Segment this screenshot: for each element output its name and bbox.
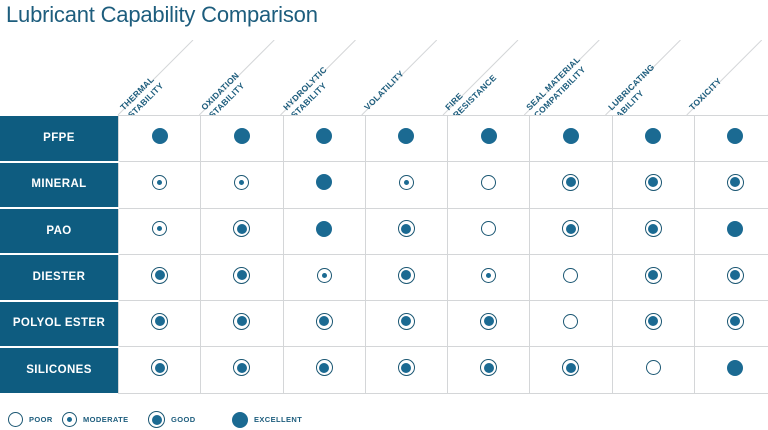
cell-polyol-ester-oxidation-stability <box>201 301 283 347</box>
rating-marker-excellent <box>152 128 168 144</box>
cell-pfpe-thermal-stability <box>119 116 201 162</box>
rating-marker-good <box>316 359 333 376</box>
rating-marker-excellent <box>727 360 743 376</box>
rating-marker-moderate <box>62 412 77 427</box>
rating-marker-good <box>645 220 662 237</box>
rating-marker-moderate <box>234 175 249 190</box>
rating-marker-excellent <box>645 128 661 144</box>
cell-silicones-lubricating-ability <box>612 347 694 393</box>
cell-diester-seal-material-compatibility <box>530 254 612 300</box>
rating-marker-good <box>727 174 744 191</box>
cell-pao-lubricating-ability <box>612 208 694 254</box>
legend-label-excellent: EXCELLENT <box>254 415 302 424</box>
rating-marker-moderate <box>152 175 167 190</box>
cell-pao-hydrolytic-stability <box>283 208 365 254</box>
page-title: Lubricant Capability Comparison <box>6 2 318 28</box>
legend-label-moderate: MODERATE <box>83 415 129 424</box>
cell-pfpe-oxidation-stability <box>201 116 283 162</box>
cell-polyol-ester-seal-material-compatibility <box>530 301 612 347</box>
cell-mineral-thermal-stability <box>119 162 201 208</box>
rating-marker-excellent <box>316 221 332 237</box>
cell-polyol-ester-thermal-stability <box>119 301 201 347</box>
rating-marker-moderate <box>152 221 167 236</box>
cell-silicones-oxidation-stability <box>201 347 283 393</box>
cell-pao-thermal-stability <box>119 208 201 254</box>
cell-pfpe-seal-material-compatibility <box>530 116 612 162</box>
cell-pfpe-lubricating-ability <box>612 116 694 162</box>
cell-diester-volatility <box>365 254 447 300</box>
rating-marker-poor <box>646 360 661 375</box>
rating-marker-good <box>151 267 168 284</box>
rating-marker-poor <box>481 221 496 236</box>
row-label-polyol-ester: POLYOL ESTER <box>0 301 119 347</box>
cell-polyol-ester-volatility <box>365 301 447 347</box>
cell-diester-hydrolytic-stability <box>283 254 365 300</box>
row-label-pao: PAO <box>0 208 119 254</box>
rating-marker-good <box>233 313 250 330</box>
rating-marker-excellent <box>727 128 743 144</box>
cell-silicones-hydrolytic-stability <box>283 347 365 393</box>
cell-pao-volatility <box>365 208 447 254</box>
rating-marker-poor <box>481 175 496 190</box>
rating-marker-excellent <box>727 221 743 237</box>
cell-mineral-seal-material-compatibility <box>530 162 612 208</box>
rating-marker-excellent <box>481 128 497 144</box>
row-label-diester: DIESTER <box>0 254 119 300</box>
rating-marker-excellent <box>316 174 332 190</box>
column-header-area: THERMALSTABILITYOXIDATIONSTABILITYHYDROL… <box>0 40 768 115</box>
rating-marker-excellent <box>563 128 579 144</box>
table-row: POLYOL ESTER <box>0 301 768 347</box>
cell-mineral-toxicity <box>694 162 768 208</box>
legend-item-good: GOOD <box>148 409 196 430</box>
rating-marker-good <box>398 313 415 330</box>
rating-marker-good <box>562 174 579 191</box>
rating-marker-good <box>645 174 662 191</box>
cell-diester-fire-resistance <box>448 254 530 300</box>
legend-label-good: GOOD <box>171 415 196 424</box>
rating-marker-excellent <box>316 128 332 144</box>
cell-diester-lubricating-ability <box>612 254 694 300</box>
cell-silicones-toxicity <box>694 347 768 393</box>
legend: POORMODERATEGOODEXCELLENT <box>0 409 768 430</box>
legend-item-excellent: EXCELLENT <box>232 409 302 430</box>
rating-marker-good <box>562 359 579 376</box>
cell-polyol-ester-hydrolytic-stability <box>283 301 365 347</box>
rating-marker-good <box>727 267 744 284</box>
cell-diester-oxidation-stability <box>201 254 283 300</box>
row-label-mineral: MINERAL <box>0 162 119 208</box>
rating-marker-good <box>480 313 497 330</box>
legend-label-poor: POOR <box>29 415 53 424</box>
table-row: SILICONES <box>0 347 768 393</box>
row-label-pfpe: PFPE <box>0 116 119 162</box>
table-row: MINERAL <box>0 162 768 208</box>
rating-marker-good <box>398 267 415 284</box>
table-row: PAO <box>0 208 768 254</box>
rating-marker-good <box>398 359 415 376</box>
rating-marker-moderate <box>317 268 332 283</box>
rating-marker-excellent <box>234 128 250 144</box>
rating-marker-good <box>151 313 168 330</box>
cell-pao-fire-resistance <box>448 208 530 254</box>
cell-mineral-hydrolytic-stability <box>283 162 365 208</box>
cell-silicones-fire-resistance <box>448 347 530 393</box>
cell-pao-oxidation-stability <box>201 208 283 254</box>
rating-marker-good <box>480 359 497 376</box>
cell-silicones-seal-material-compatibility <box>530 347 612 393</box>
row-label-silicones: SILICONES <box>0 347 119 393</box>
cell-diester-thermal-stability <box>119 254 201 300</box>
cell-pfpe-toxicity <box>694 116 768 162</box>
rating-marker-excellent <box>232 412 248 428</box>
rating-marker-moderate <box>399 175 414 190</box>
rating-marker-poor <box>8 412 23 427</box>
rating-marker-poor <box>563 314 578 329</box>
cell-diester-toxicity <box>694 254 768 300</box>
rating-marker-good <box>151 359 168 376</box>
cell-silicones-thermal-stability <box>119 347 201 393</box>
rating-marker-good <box>398 220 415 237</box>
cell-mineral-lubricating-ability <box>612 162 694 208</box>
cell-silicones-volatility <box>365 347 447 393</box>
rating-marker-good <box>645 313 662 330</box>
cell-pfpe-hydrolytic-stability <box>283 116 365 162</box>
rating-marker-poor <box>563 268 578 283</box>
rating-marker-good <box>727 313 744 330</box>
rating-marker-good <box>233 267 250 284</box>
table-row: PFPE <box>0 116 768 162</box>
cell-mineral-oxidation-stability <box>201 162 283 208</box>
cell-polyol-ester-lubricating-ability <box>612 301 694 347</box>
cell-pfpe-fire-resistance <box>448 116 530 162</box>
cell-polyol-ester-fire-resistance <box>448 301 530 347</box>
capability-matrix: PFPEMINERALPAODIESTERPOLYOL ESTERSILICON… <box>0 115 768 394</box>
cell-pao-seal-material-compatibility <box>530 208 612 254</box>
cell-polyol-ester-toxicity <box>694 301 768 347</box>
cell-pao-toxicity <box>694 208 768 254</box>
rating-marker-good <box>316 313 333 330</box>
cell-pfpe-volatility <box>365 116 447 162</box>
rating-marker-moderate <box>481 268 496 283</box>
legend-item-moderate: MODERATE <box>62 409 129 430</box>
rating-marker-excellent <box>398 128 414 144</box>
cell-mineral-fire-resistance <box>448 162 530 208</box>
rating-marker-good <box>645 267 662 284</box>
rating-marker-good <box>233 359 250 376</box>
legend-item-poor: POOR <box>8 409 53 430</box>
table-row: DIESTER <box>0 254 768 300</box>
rating-marker-good <box>562 220 579 237</box>
rating-marker-good <box>148 411 165 428</box>
cell-mineral-volatility <box>365 162 447 208</box>
rating-marker-good <box>233 220 250 237</box>
